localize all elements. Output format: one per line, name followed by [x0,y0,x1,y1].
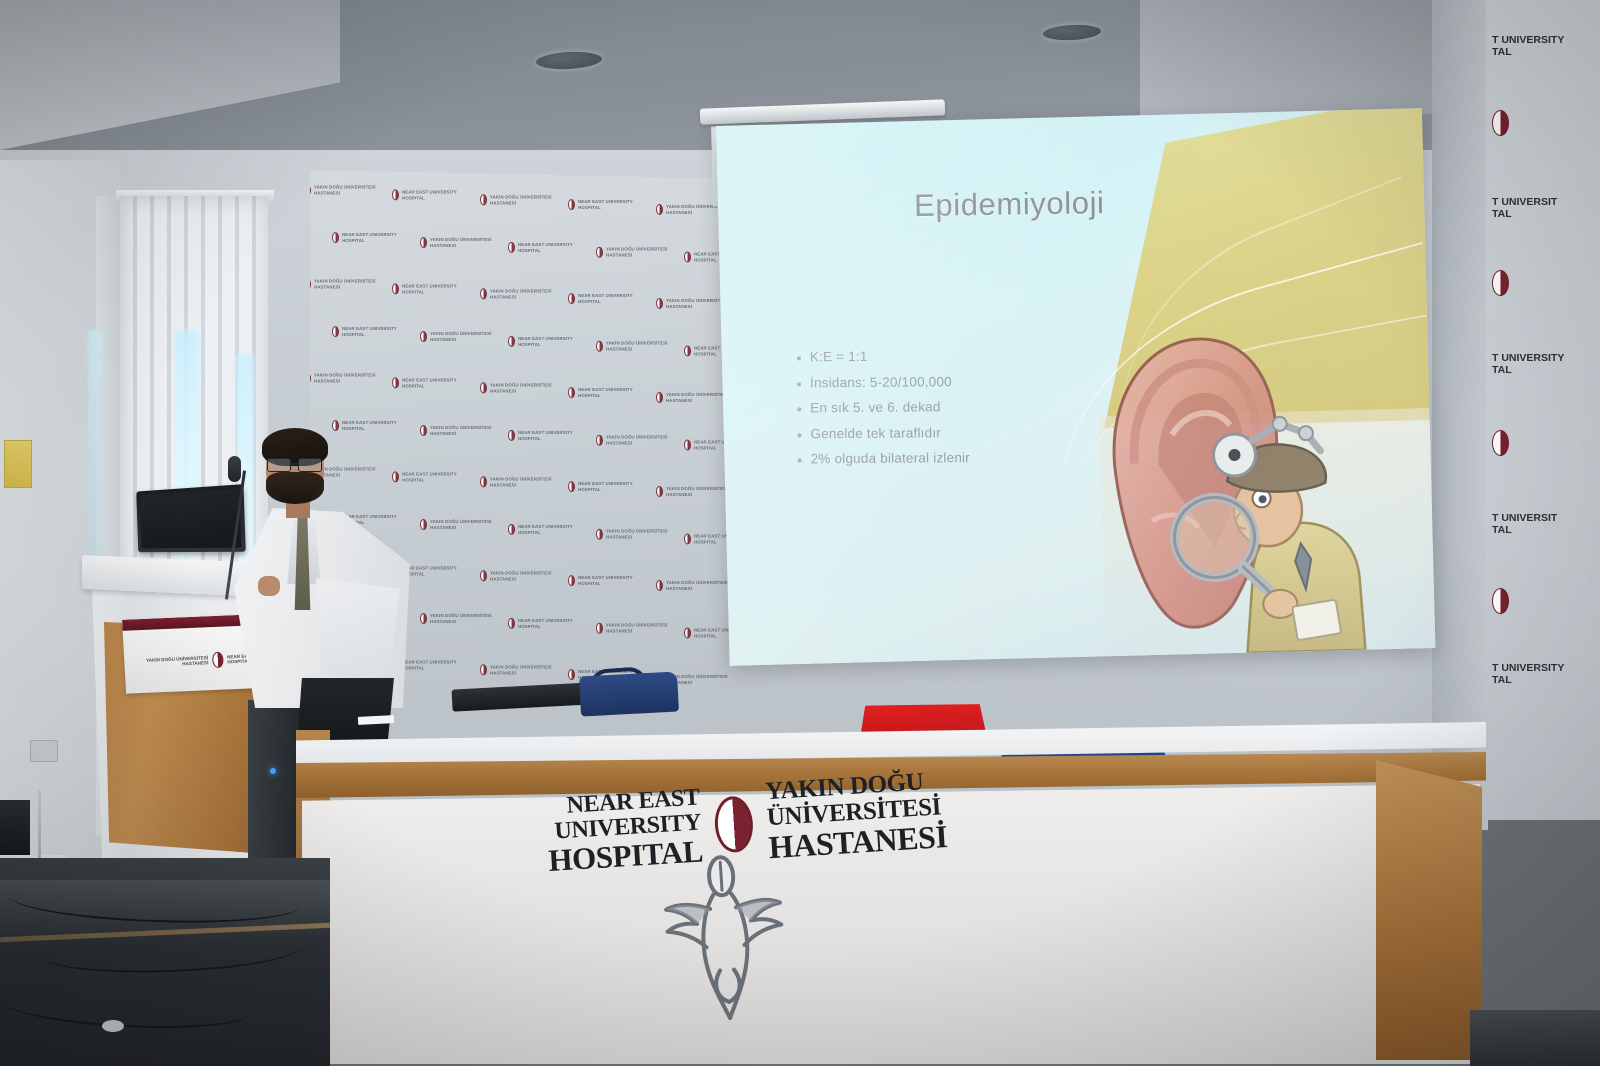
backdrop-logo: YAKIN DOĞU ÜNİVERSİTESİHASTANESİ [596,623,668,634]
projection-screen: Epidemiyoloji K:E = 1:1İnsidans: 5-20/10… [716,108,1435,666]
backdrop-logo-text: NEAR EAST UNIVERSITYHOSPITAL [518,618,573,628]
slide-bullet-item: En sık 5. ve 6. dekad [797,398,1097,415]
slide-bullet-list: K:E = 1:1İnsidans: 5-20/100,000En sık 5.… [797,347,1098,477]
slide-title: Epidemiyoloji [914,185,1105,224]
backdrop-logo: YAKIN DOĞU ÜNİVERSİTESİHASTANESİ [480,570,552,581]
hospital-mark-icon-small [568,387,575,398]
hospital-mark-icon-small [480,288,487,299]
bullet-dot-icon [798,458,802,462]
hospital-mark-icon-small [480,476,487,487]
hospital-mark-icon-small [568,199,575,210]
backdrop-logo-text: YAKIN DOĞU ÜNİVERSİTESİHASTANESİ [606,529,668,539]
backdrop-logo-text: YAKIN DOĞU ÜNİVERSİTESİHASTANESİ [490,665,552,675]
slide-bullet-text: K:E = 1:1 [810,349,868,364]
backdrop-logo-text: YAKIN DOĞU ÜNİVERSİTESİHASTANESİ [666,580,728,590]
hospital-mark-icon-small [332,232,339,243]
presenter-speaker [236,428,406,718]
right-wall-logo-line1-e: T UNIVERSITY [1492,662,1564,674]
hospital-mark-icon-small [596,623,603,634]
backdrop-logo: NEAR EAST UNIVERSITYHOSPITAL [508,242,573,253]
backdrop-logo: YAKIN DOĞU ÜNİVERSİTESİHASTANESİ [310,373,376,384]
hospital-mark-icon-small [568,669,575,680]
right-wall-logo-line2: TAL [1492,46,1564,58]
hospital-mark-icon-small [656,392,663,403]
eyeglass-lens-right [298,458,322,472]
backdrop-logo-text: YAKIN DOĞU ÜNİVERSİTESİHASTANESİ [430,425,492,435]
right-wall-logo-text-3: T UNIVERSITY TAL [1492,352,1564,376]
backdrop-logo: YAKIN DOĞU ÜNİVERSİTESİHASTANESİ [420,519,492,530]
hospital-mark-icon-small [508,336,515,347]
backdrop-logo-text: YAKIN DOĞU ÜNİVERSİTESİHASTANESİ [430,613,492,623]
right-wall-logo-text-1: T UNIVERSITY TAL [1492,34,1564,58]
backdrop-logo-text: YAKIN DOĞU ÜNİVERSİTESİHASTANESİ [430,519,492,529]
backdrop-logo: YAKIN DOĞU ÜNİVERSİTESİHASTANESİ [480,664,552,675]
backdrop-logo: YAKIN DOĞU ÜNİVERSİTESİHASTANESİ [596,435,668,446]
backdrop-logo-text: YAKIN DOĞU ÜNİVERSİTESİHASTANESİ [314,185,376,195]
right-wall-logo-line2-e: TAL [1492,674,1564,686]
hospital-mark-icon-small [596,247,603,258]
presenter-hand [258,576,280,596]
backdrop-logo-text: YAKIN DOĞU ÜNİVERSİTESİHASTANESİ [490,571,552,581]
right-wall-logo-text-5: T UNIVERSITY TAL [1492,662,1564,686]
backdrop-logo: YAKIN DOĞU ÜNİVERSİTESİHASTANESİ [480,476,552,487]
hospital-mark-icon-small [508,618,515,629]
backdrop-logo-text: NEAR EAST UNIVERSITYHOSPITAL [402,378,457,388]
hospital-mark-icon-small [596,341,603,352]
right-wall-logo-line2-d: TAL [1492,524,1557,536]
right-wall-logo-text-2: T UNIVERSIT TAL [1492,196,1557,220]
backdrop-logo: NEAR EAST UNIVERSITYHOSPITAL [508,336,573,347]
hospital-mark-icon-small [508,524,515,535]
backdrop-logo-text: NEAR EAST UNIVERSITYHOSPITAL [578,575,633,585]
backdrop-logo-text: NEAR EAST UNIVERSITYHOSPITAL [578,199,633,209]
hospital-mark-icon-small [332,326,339,337]
equipment-led-icon [270,768,276,774]
hospital-mark-icon-small [310,279,311,290]
floor-object [102,1020,124,1032]
podium-laptop[interactable] [136,484,246,552]
hospital-mark-icon-small [684,440,691,451]
wall-warning-sign [4,440,32,488]
right-wall-logo-mark-4 [1492,588,1509,614]
backdrop-logo-text: YAKIN DOĞU ÜNİVERSİTESİHASTANESİ [606,435,668,445]
right-wall-logo-line2-c: TAL [1492,364,1564,376]
backdrop-logo-text: YAKIN DOĞU ÜNİVERSİTESİHASTANESİ [606,247,668,257]
slide-bullet-item: K:E = 1:1 [797,347,1097,364]
backdrop-logo: NEAR EAST UNIVERSITYHOSPITAL [332,326,397,337]
slide-bullet-text: 2% olguda bilateral izlenir [811,450,970,466]
hospital-mark-icon-small [568,575,575,586]
backdrop-logo: NEAR EAST UNIVERSITYHOSPITAL [392,283,457,294]
backdrop-logo-text: NEAR EAST UNIVERSITYHOSPITAL [342,326,397,336]
right-wall-logo-line2-b: TAL [1492,208,1557,220]
hospital-mark-icon-small [392,377,399,388]
backdrop-logo-text: YAKIN DOĞU ÜNİVERSİTESİHASTANESİ [606,623,668,633]
backdrop-logo: YAKIN DOĞU ÜNİVERSİTESİHASTANESİ [480,382,552,393]
hospital-mark-icon-4 [1492,588,1509,614]
backdrop-logo-text: YAKIN DOĞU ÜNİVERSİTESİHASTANESİ [430,331,492,341]
backdrop-logo-text: NEAR EAST UNIVERSITYHOSPITAL [342,232,397,242]
hospital-mark-icon-small [310,185,311,196]
slide-bullet-item: 2% olguda bilateral izlenir [798,449,1098,466]
hospital-mark-icon-small [310,373,311,384]
slide-bullet-item: İnsidans: 5-20/100,000 [797,373,1097,390]
backdrop-logo: NEAR EAST UNIVERSITYHOSPITAL [568,293,633,304]
backdrop-logo-text: YAKIN DOĞU ÜNİVERSİTESİHASTANESİ [314,373,376,383]
hospital-mark-icon-small [656,486,663,497]
backdrop-logo: YAKIN DOĞU ÜNİVERSİTESİHASTANESİ [420,237,492,248]
wall-socket [30,740,58,762]
hospital-mark-icon-small [420,519,427,530]
bullet-dot-icon [797,407,801,411]
hospital-mark-icon-small [684,346,691,357]
backdrop-logo: NEAR EAST UNIVERSITYHOSPITAL [508,618,573,629]
right-wall-logo-line1: T UNIVERSITY [1492,34,1564,46]
right-wall-logo-mark-3 [1492,430,1509,456]
right-wall-logo-line1-c: T UNIVERSITY [1492,352,1564,364]
backdrop-logo-text: YAKIN DOĞU ÜNİVERSİTESİHASTANESİ [606,341,668,351]
hospital-mark-icon-small [596,435,603,446]
presenter-beard [266,472,324,504]
backdrop-logo: YAKIN DOĞU ÜNİVERSİTESİHASTANESİ [420,425,492,436]
backdrop-logo: YAKIN DOĞU ÜNİVERSİTESİHASTANESİ [310,185,376,196]
hospital-mark-icon-small [420,237,427,248]
hospital-mark-icon-desk [713,795,754,853]
backdrop-logo-text: NEAR EAST UNIVERSITYHOSPITAL [518,524,573,534]
backdrop-logo: YAKIN DOĞU ÜNİVERSİTESİHASTANESİ [480,194,552,205]
backdrop-logo: YAKIN DOĞU ÜNİVERSİTESİHASTANESİ [656,486,728,497]
hospital-mark-icon-small [684,252,691,263]
backdrop-logo: NEAR EAST UNIVERSITYHOSPITAL [508,524,573,535]
backdrop-logo: NEAR EAST UNIVERSITYHOSPITAL [392,189,457,200]
slide-bullet-item: Genelde tek taraflıdır [797,424,1097,441]
hospital-mark-icon-small [480,570,487,581]
backdrop-logo-text: NEAR EAST UNIVERSITYHOSPITAL [578,293,633,303]
right-wall-logo-line1-d: T UNIVERSIT [1492,512,1557,524]
backdrop-logo: NEAR EAST UNIVERSITYHOSPITAL [392,377,457,388]
bullet-dot-icon [797,433,801,437]
hospital-mark-icon-small [656,298,663,309]
hospital-mark-icon-2 [1492,270,1509,296]
desk-hospital-logo: NEAR EAST UNIVERSITY HOSPITAL YAKIN DOĞU… [501,765,1016,1046]
bullet-dot-icon [797,356,801,360]
winged-caduceus-emblem-icon [655,846,796,1029]
right-wall-logo-mark-2 [1492,270,1509,296]
podium-sign-turkish: YAKIN DOĞU ÜNİVERSİTESİ HASTANESİ [146,655,209,669]
backdrop-logo-text: NEAR EAST UNIVERSITYHOSPITAL [402,660,457,670]
hospital-mark-icon [1492,110,1509,136]
hospital-mark-icon-small [480,194,487,205]
hospital-mark-icon-small [568,293,575,304]
slide-bullet-text: En sık 5. ve 6. dekad [810,399,940,415]
hospital-mark-icon-small [656,580,663,591]
desk-logo-turkish: YAKIN DOĞU ÜNİVERSİTESİ HASTANESİ [764,765,1005,865]
hospital-mark-icon-small [480,382,487,393]
backdrop-logo-text: YAKIN DOĞU ÜNİVERSİTESİHASTANESİ [314,279,376,289]
presenter-arm [316,578,400,688]
backdrop-logo: NEAR EAST UNIVERSITYHOSPITAL [332,232,397,243]
backdrop-logo: NEAR EAST UNIVERSITYHOSPITAL [568,199,633,210]
hospital-mark-icon-3 [1492,430,1509,456]
backdrop-logo: NEAR EAST UNIVERSITYHOSPITAL [508,430,573,441]
hospital-mark-icon-small [480,664,487,675]
backdrop-logo-text: YAKIN DOĞU ÜNİVERSİTESİHASTANESİ [490,195,552,205]
hospital-mark-icon-small [568,481,575,492]
backdrop-logo-text: NEAR EAST UNIVERSITYHOSPITAL [578,387,633,397]
hospital-mark-icon-small [420,331,427,342]
backdrop-logo: YAKIN DOĞU ÜNİVERSİTESİHASTANESİ [656,580,728,591]
backdrop-logo-text: NEAR EAST UNIVERSITYHOSPITAL [518,336,573,346]
backdrop-logo-text: NEAR EAST UNIVERSITYHOSPITAL [518,430,573,440]
backdrop-logo-text: YAKIN DOĞU ÜNİVERSİTESİHASTANESİ [490,477,552,487]
floor-right-sliver [1470,1010,1600,1066]
backdrop-logo: NEAR EAST UNIVERSITYHOSPITAL [568,387,633,398]
hospital-mark-icon-small [392,283,399,294]
backdrop-logo: YAKIN DOĞU ÜNİVERSİTESİHASTANESİ [420,331,492,342]
hospital-mark-icon-small [684,628,691,639]
bullet-dot-icon [797,382,801,386]
side-equipment-box [0,800,30,858]
backdrop-logo-text: YAKIN DOĞU ÜNİVERSİTESİHASTANESİ [666,486,728,496]
backdrop-logo-text: YAKIN DOĞU ÜNİVERSİTESİHASTANESİ [666,298,728,308]
right-wall-logo-text-4: T UNIVERSIT TAL [1492,512,1557,536]
backdrop-logo-text: NEAR EAST UNIVERSITYHOSPITAL [402,190,457,200]
backdrop-logo-text: YAKIN DOĞU ÜNİVERSİTESİHASTANESİ [490,383,552,393]
backdrop-logo: YAKIN DOĞU ÜNİVERSİTESİHASTANESİ [596,247,668,258]
backdrop-logo: YAKIN DOĞU ÜNİVERSİTESİHASTANESİ [480,288,552,299]
hospital-mark-icon-small [392,189,399,200]
backdrop-logo-text: NEAR EAST UNIVERSITYHOSPITAL [518,242,573,252]
hospital-mark-icon-small [656,204,663,215]
backdrop-logo: YAKIN DOĞU ÜNİVERSİTESİHASTANESİ [420,613,492,624]
slide-bullet-text: İnsidans: 5-20/100,000 [810,374,952,390]
right-wall-logo-line1-b: T UNIVERSIT [1492,196,1557,208]
hospital-mark-icon-small [420,613,427,624]
backdrop-logo-text: YAKIN DOĞU ÜNİVERSİTESİHASTANESİ [666,392,728,402]
hospital-mark-icon-small [420,425,427,436]
right-wall-logo-mark-1 [1492,110,1509,136]
backdrop-logo-text: NEAR EAST UNIVERSITYHOSPITAL [402,284,457,294]
hospital-mark-icon-small [508,430,515,441]
eyeglass-lens-left [267,458,291,472]
presentation-room-photo: YAKIN DOĞU ÜNİVERSİTESİHASTANESİNEAR EAS… [0,0,1600,1066]
hospital-mark-icon-small [596,529,603,540]
hospital-mark-icon-small [684,534,691,545]
backdrop-logo: YAKIN DOĞU ÜNİVERSİTESİHASTANESİ [656,392,728,403]
backdrop-logo: YAKIN DOĞU ÜNİVERSİTESİHASTANESİ [656,298,728,309]
backdrop-logo-text: NEAR EAST UNIVERSITYHOSPITAL [402,566,457,576]
podium-laptop-screen [140,489,242,549]
backdrop-logo-text: YAKIN DOĞU ÜNİVERSİTESİHASTANESİ [490,289,552,299]
presenter-eyeglasses-icon [266,458,324,470]
backdrop-logo: NEAR EAST UNIVERSITYHOSPITAL [568,481,633,492]
backdrop-logo-text: YAKIN DOĞU ÜNİVERSİTESİHASTANESİ [430,237,492,247]
backdrop-logo-text: NEAR EAST UNIVERSITYHOSPITAL [578,481,633,491]
backdrop-logo-text: NEAR EAST UNIVERSITYHOSPITAL [402,472,457,482]
backdrop-logo: NEAR EAST UNIVERSITYHOSPITAL [568,575,633,586]
slide-bullet-text: Genelde tek taraflıdır [810,425,941,441]
backdrop-logo: YAKIN DOĞU ÜNİVERSİTESİHASTANESİ [596,529,668,540]
hospital-mark-icon-small [508,242,515,253]
cartoon-doctor-examining-ear-icon [1051,309,1409,658]
hospital-mark-icon-podium [212,652,224,668]
backdrop-logo: YAKIN DOĞU ÜNİVERSİTESİHASTANESİ [596,341,668,352]
backdrop-logo: YAKIN DOĞU ÜNİVERSİTESİHASTANESİ [310,279,376,290]
desk-right-side-panel [1376,760,1482,1060]
